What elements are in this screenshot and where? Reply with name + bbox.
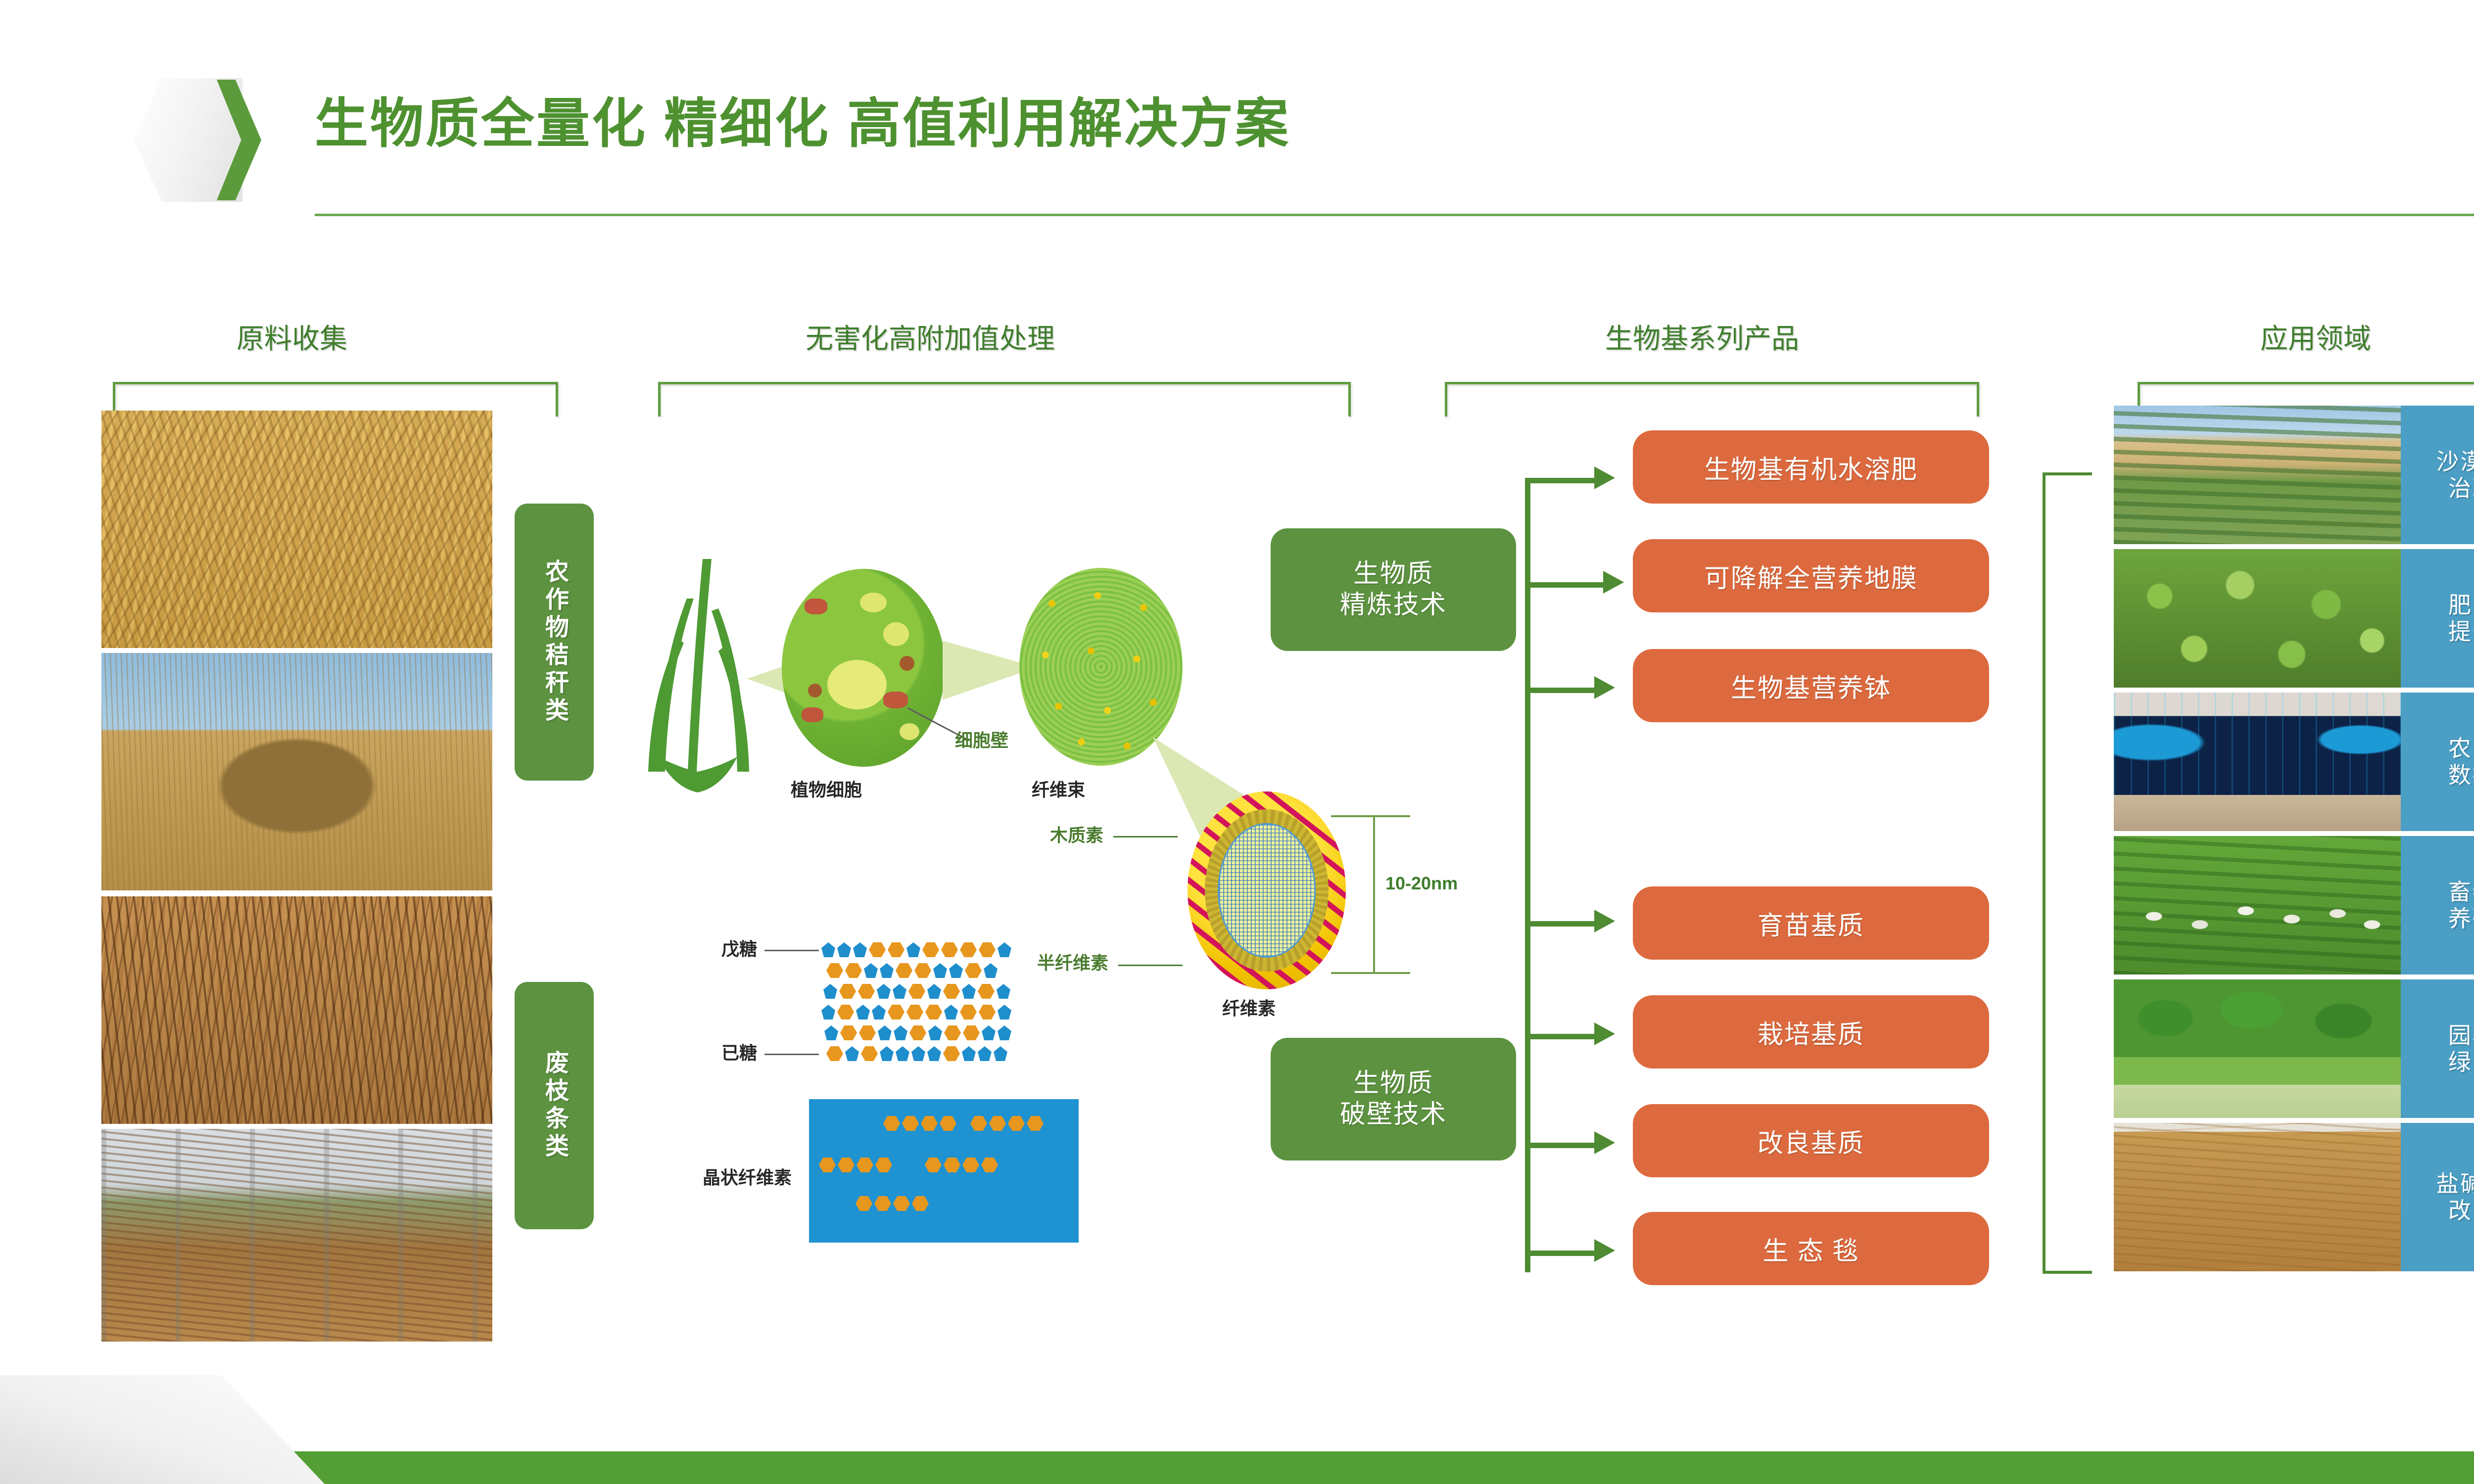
plant-cell-illustration xyxy=(782,569,945,767)
application-desert-control[interactable]: 沙漠化 治理 xyxy=(2401,406,2474,544)
application-line-2: 绿化 xyxy=(2448,1049,2474,1075)
cellulose-label: 纤维素 xyxy=(1222,994,1276,1020)
product-label: 可降解全营养地膜 xyxy=(1704,557,1918,595)
pentose-leader-line xyxy=(764,950,819,951)
footer-bar xyxy=(0,1451,2474,1484)
product-box-water-soluble-fertilizer[interactable]: 生物基有机水溶肥 xyxy=(1633,430,1989,504)
application-agriculture-data[interactable]: 农业 数据 xyxy=(2401,693,2474,831)
fiber-bundle-label: 纤维束 xyxy=(1032,776,1085,801)
page-title: 生物质全量化 精细化 高值利用解决方案 xyxy=(315,93,1290,154)
product-box-ecological-blanket[interactable]: 生 态 毯 xyxy=(1633,1212,1989,1285)
applications-brace xyxy=(2043,472,2092,1274)
sugar-chain-illustration xyxy=(821,942,1098,1081)
dimension-line xyxy=(1373,815,1375,974)
application-line-2: 治理 xyxy=(2448,475,2474,502)
application-line-1: 畜牧 xyxy=(2448,879,2474,905)
product-label: 育苗基质 xyxy=(1758,905,1864,942)
feedstock-category-label: 废枝条类 xyxy=(542,1050,566,1161)
feedstock-category-label: 农作物秸秆类 xyxy=(542,559,566,725)
product-box-seedling-substrate[interactable]: 育苗基质 xyxy=(1633,886,1989,960)
arrow-cellwall-4 xyxy=(1594,1239,1615,1262)
technology-line-2: 精炼技术 xyxy=(1340,590,1447,621)
pentose-label: 戊糖 xyxy=(721,935,757,961)
product-box-improvement-substrate[interactable]: 改良基质 xyxy=(1633,1104,1989,1177)
connector-trunk-cellwall xyxy=(1525,921,1530,1272)
grass-plant-icon xyxy=(628,539,767,816)
application-line-2: 数据 xyxy=(2448,762,2474,788)
dimension-tick-top xyxy=(1331,815,1410,817)
feedstock-category-crop-straw[interactable]: 农作物秸秆类 xyxy=(515,504,594,781)
application-line-1: 沙漠化 xyxy=(2436,448,2474,475)
arrow-cellwall-2 xyxy=(1594,1022,1615,1045)
application-landscaping[interactable]: 园林 绿化 xyxy=(2401,979,2474,1118)
connector-branch-cellwall-1 xyxy=(1525,921,1595,927)
plant-cell-label: 植物细胞 xyxy=(791,776,862,801)
connector-trunk-refining xyxy=(1525,478,1530,973)
technology-box-cellwall-breaking[interactable]: 生物质 破壁技术 xyxy=(1271,1038,1516,1160)
product-label: 生 态 毯 xyxy=(1763,1230,1859,1267)
technology-line-2: 破壁技术 xyxy=(1340,1099,1447,1130)
application-saline-land-improvement[interactable]: 盐碱地 改良 xyxy=(2401,1123,2474,1271)
sheep-pasture-photo xyxy=(2114,836,2401,974)
dimension-tick-bottom xyxy=(1331,972,1410,974)
section-title-applications: 应用领域 xyxy=(2098,317,2474,357)
section-title-products: 生物基系列产品 xyxy=(1420,317,1984,357)
bracket-products xyxy=(1445,382,1979,417)
application-line-2: 改良 xyxy=(2448,1197,2474,1224)
data-control-room-photo xyxy=(2114,693,2401,831)
feedstock-category-waste-branches[interactable]: 废枝条类 xyxy=(515,982,594,1229)
connector-trunk-refining-end xyxy=(1525,688,1530,694)
arrow-cellwall-1 xyxy=(1594,910,1615,932)
hexose-label: 已糖 xyxy=(721,1039,757,1065)
title-divider xyxy=(315,214,2474,216)
connector-branch-cellwall-4 xyxy=(1525,1251,1595,1256)
header-badge xyxy=(134,78,257,202)
technology-line-1: 生物质 xyxy=(1353,1068,1433,1099)
bracket-processing xyxy=(658,382,1351,417)
straw-bale-photo xyxy=(101,653,492,890)
technology-box-refining[interactable]: 生物质 精炼技术 xyxy=(1271,528,1516,651)
connector-branch-refining-3 xyxy=(1525,688,1595,693)
fiber-bundle-illustration xyxy=(1019,568,1183,766)
connector-branch-cellwall-2 xyxy=(1525,1034,1595,1039)
product-label: 栽培基质 xyxy=(1758,1014,1864,1051)
application-fertility-improvement[interactable]: 肥力 提升 xyxy=(2401,549,2474,688)
product-label: 生物基营养钵 xyxy=(1731,667,1891,704)
dimension-label: 10-20nm xyxy=(1385,873,1458,894)
crystalline-cellulose-illustration xyxy=(809,1099,1079,1243)
product-label: 改良基质 xyxy=(1758,1122,1864,1159)
application-line-1: 肥力 xyxy=(2448,592,2474,618)
application-line-2: 养殖 xyxy=(2448,905,2474,932)
section-title-processing: 无害化高附加值处理 xyxy=(633,317,1227,357)
saline-land-photo xyxy=(2114,1123,2401,1271)
lignin-label: 木质素 xyxy=(1050,821,1103,847)
arrow-refining-1 xyxy=(1594,466,1615,489)
crystalline-cellulose-label: 晶状纤维素 xyxy=(703,1163,792,1189)
technology-line-1: 生物质 xyxy=(1353,558,1433,590)
cell-wall-label: 细胞壁 xyxy=(955,726,1008,752)
dry-branches-photo xyxy=(101,896,492,1124)
connector-branch-refining-1 xyxy=(1525,478,1595,483)
hemicellulose-leader-line xyxy=(1118,965,1183,966)
product-box-cultivation-substrate[interactable]: 栽培基质 xyxy=(1633,995,1989,1068)
desert-greening-photo xyxy=(2114,406,2401,544)
product-box-nutrient-pot[interactable]: 生物基营养钵 xyxy=(1633,649,1989,722)
application-line-1: 园林 xyxy=(2448,1022,2474,1049)
cabbage-field-photo xyxy=(2114,549,2401,688)
application-livestock-breeding[interactable]: 畜牧 养殖 xyxy=(2401,836,2474,974)
arrow-refining-3 xyxy=(1594,676,1615,699)
application-line-2: 提升 xyxy=(2448,618,2474,645)
application-line-1: 农业 xyxy=(2448,735,2474,762)
connector-branch-cellwall-3 xyxy=(1525,1143,1595,1148)
product-box-biodegradable-mulch-film[interactable]: 可降解全营养地膜 xyxy=(1633,539,1989,612)
lignin-leader-line xyxy=(1113,836,1178,837)
vineyard-pruning-photo xyxy=(101,1129,492,1342)
section-title-collection: 原料收集 xyxy=(129,317,455,357)
product-label: 生物基有机水溶肥 xyxy=(1704,449,1918,486)
connector-branch-refining-2 xyxy=(1525,582,1604,588)
cellulose-cross-section-illustration xyxy=(1188,791,1346,989)
hexose-leader-line xyxy=(764,1054,819,1055)
park-landscape-photo xyxy=(2114,979,2401,1118)
application-line-1: 盐碱地 xyxy=(2436,1170,2474,1197)
arrow-refining-2 xyxy=(1603,571,1624,594)
corn-stalk-field-photo xyxy=(101,411,492,648)
arrow-cellwall-3 xyxy=(1594,1131,1615,1154)
